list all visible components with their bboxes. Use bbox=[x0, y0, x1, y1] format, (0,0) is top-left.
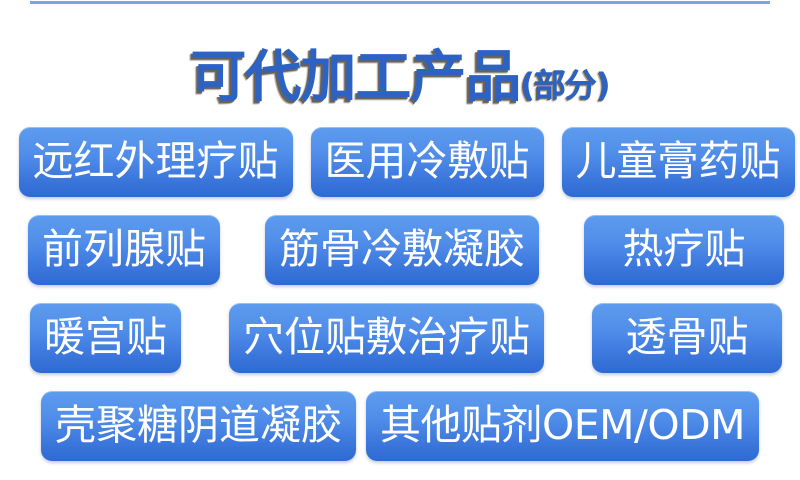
product-chip-prostate-patch[interactable]: 前列腺贴 bbox=[28, 215, 220, 285]
product-chip-grid: 远红外理疗贴 医用冷敷贴 儿童膏药贴 前列腺贴 筋骨冷敷凝胶 热疗贴 暖宫贴 bbox=[0, 126, 800, 478]
product-chip-muscle-bone-cold-gel[interactable]: 筋骨冷敷凝胶 bbox=[265, 215, 539, 285]
product-chip-medical-cold-compress-patch[interactable]: 医用冷敷贴 bbox=[311, 127, 544, 197]
product-row-1: 远红外理疗贴 医用冷敷贴 儿童膏药贴 bbox=[0, 126, 800, 198]
product-chip-heat-therapy-patch[interactable]: 热疗贴 bbox=[584, 215, 784, 285]
product-chip-label: 透骨贴 bbox=[626, 317, 749, 358]
product-catalog-banner: 可代加工产品(部分) 远红外理疗贴 医用冷敷贴 儿童膏药贴 前列腺贴 筋骨冷敷凝… bbox=[0, 0, 800, 480]
product-row-3: 暖宫贴 穴位贴敷治疗贴 透骨贴 bbox=[0, 302, 800, 374]
product-chip-label: 远红外理疗贴 bbox=[33, 141, 279, 182]
product-chip-womb-warming-patch[interactable]: 暖宫贴 bbox=[30, 303, 181, 373]
product-row-4: 壳聚糖阴道凝胶 其他贴剂OEM/ODM bbox=[0, 390, 800, 462]
product-chip-chitosan-vaginal-gel[interactable]: 壳聚糖阴道凝胶 bbox=[41, 391, 356, 461]
product-chip-label: 暖宫贴 bbox=[44, 317, 167, 358]
page-title-main: 可代加工产品 bbox=[190, 45, 520, 110]
page-title-suffix: (部分) bbox=[520, 66, 609, 104]
product-chip-label: 壳聚糖阴道凝胶 bbox=[55, 405, 342, 446]
product-chip-label: 其他贴剂OEM/ODM bbox=[380, 405, 745, 446]
product-chip-bone-penetrating-patch[interactable]: 透骨贴 bbox=[592, 303, 782, 373]
product-chip-label: 穴位贴敷治疗贴 bbox=[243, 317, 530, 358]
product-chip-label: 筋骨冷敷凝胶 bbox=[279, 229, 525, 270]
product-row-2: 前列腺贴 筋骨冷敷凝胶 热疗贴 bbox=[0, 214, 800, 286]
page-title: 可代加工产品(部分) bbox=[0, 32, 800, 113]
product-chip-other-patch-oem-odm[interactable]: 其他贴剂OEM/ODM bbox=[366, 391, 759, 461]
product-chip-label: 儿童膏药贴 bbox=[576, 141, 781, 182]
product-chip-label: 医用冷敷贴 bbox=[325, 141, 530, 182]
product-chip-childrens-plaster-patch[interactable]: 儿童膏药贴 bbox=[562, 127, 795, 197]
product-chip-label: 前列腺贴 bbox=[42, 229, 206, 270]
product-chip-label: 热疗贴 bbox=[623, 229, 746, 270]
top-divider-rule bbox=[30, 1, 770, 4]
product-chip-acupoint-application-patch[interactable]: 穴位贴敷治疗贴 bbox=[229, 303, 544, 373]
product-chip-far-infrared-patch[interactable]: 远红外理疗贴 bbox=[19, 127, 293, 197]
